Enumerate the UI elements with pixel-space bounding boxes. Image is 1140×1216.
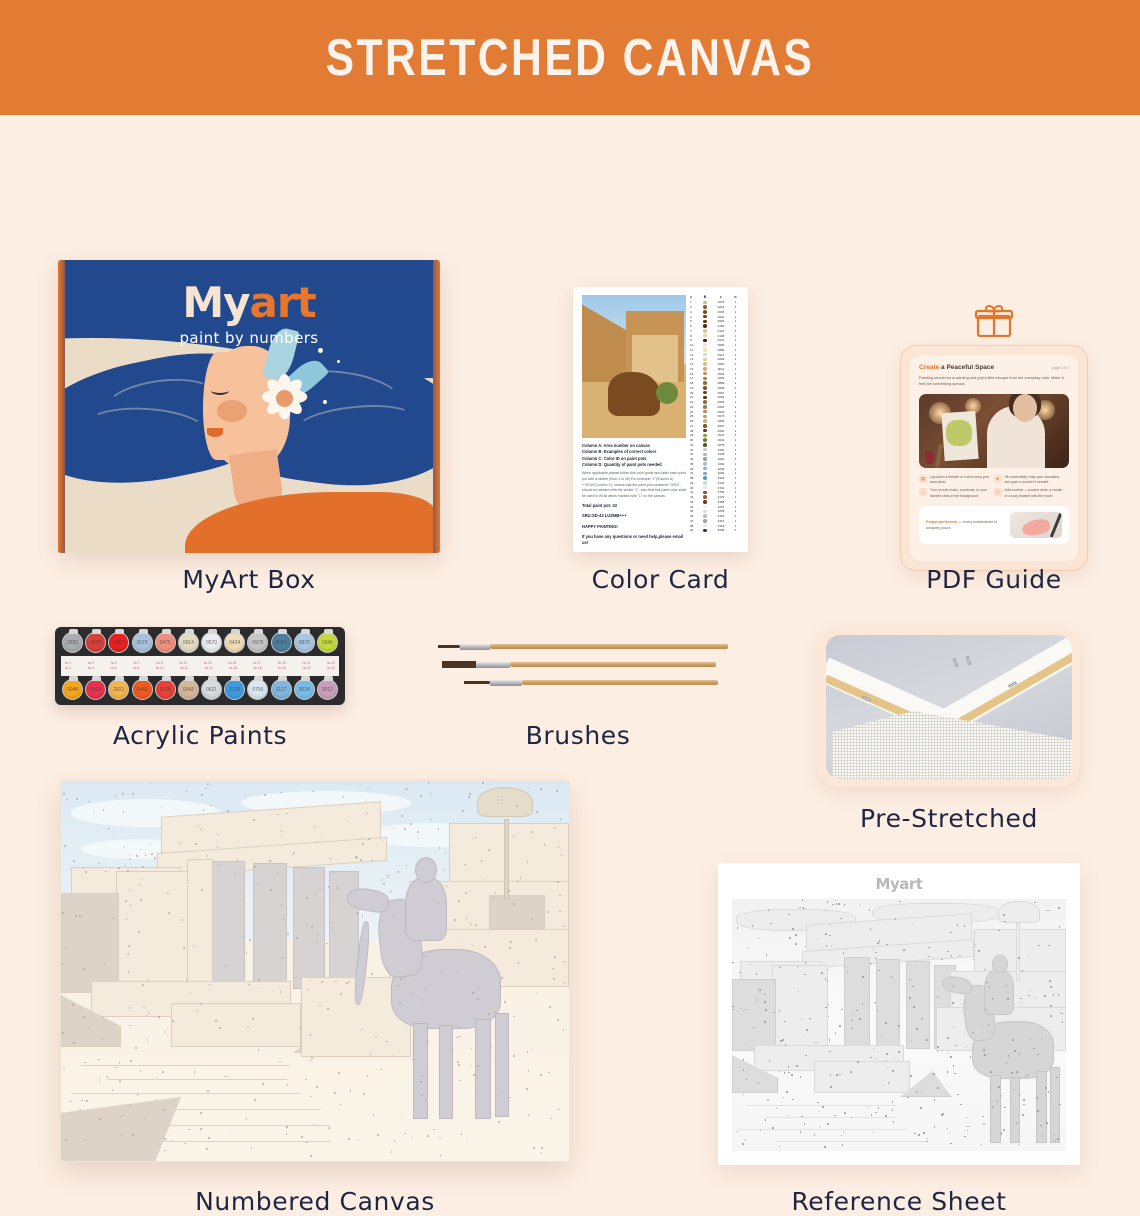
pot-quantity: 1 [731, 467, 740, 471]
region-number-dot [947, 1037, 949, 1039]
color-id: 0081 [711, 400, 731, 404]
column [906, 961, 930, 1049]
palm-trunk [504, 819, 509, 899]
pot-quantity: 1 [731, 329, 740, 333]
region-number-dot [952, 1002, 954, 1004]
region-number-dot [154, 857, 156, 859]
region-number-dot [404, 1133, 406, 1135]
area-number: 10 [690, 343, 699, 347]
page-header: STRETCHED CANVAS [0, 0, 1140, 115]
blanket-icon: ▤ [919, 475, 927, 483]
region-number-dot [842, 1144, 844, 1146]
color-swatch [699, 500, 711, 504]
color-swatch [699, 415, 711, 419]
region-number-dot [62, 1032, 64, 1034]
region-number-dot [563, 1029, 565, 1031]
eye [211, 386, 229, 395]
region-number-dot [140, 1070, 142, 1072]
region-number-dot [135, 1047, 137, 1049]
area-number: 44 [690, 505, 699, 509]
region-number-dot [784, 1021, 786, 1023]
color-table-row: 1006661 [690, 343, 741, 348]
region-number-dot [984, 1054, 986, 1056]
region-number-dot [207, 1090, 209, 1092]
region-number-dot [122, 793, 124, 795]
region-number-dot [756, 999, 758, 1001]
color-swatch [699, 519, 711, 523]
region-number-dot [973, 959, 975, 961]
pot-quantity: 1 [731, 386, 740, 390]
color-swatch [699, 329, 711, 333]
color-swatch [699, 358, 711, 362]
area-number: 28 [690, 429, 699, 433]
region-number-dot [1000, 1095, 1002, 1097]
color-table-row: 4333581 [690, 500, 741, 505]
region-number-dot [501, 977, 503, 979]
pot-quantity: 1 [731, 376, 740, 380]
region-number-dot [815, 1042, 817, 1044]
region-number-dot [301, 1136, 303, 1138]
region-number-dot [839, 1025, 841, 1027]
color-table-row: 4037021 [690, 485, 741, 490]
region-number-dot [439, 1138, 441, 1140]
region-number-dot [399, 1002, 401, 1004]
region-number-dot [493, 897, 495, 899]
color-swatch [699, 434, 711, 438]
region-number-dot [800, 1131, 802, 1133]
pdf-tip: ♨Add comfort — a warm drink, a candle, o… [994, 488, 1065, 499]
color-card-thumbnail [582, 295, 686, 438]
region-number-dot [315, 894, 317, 896]
acrylic-paints-item: 0292063300073079047508140570042409750015… [55, 627, 345, 705]
region-number-dot [425, 956, 427, 958]
color-id: 1060 [711, 448, 731, 452]
region-number-dot [875, 1112, 877, 1114]
region-number-dot [830, 1086, 832, 1088]
color-table-row: 1600021 [690, 371, 741, 376]
color-id: 0066 [711, 410, 731, 414]
camel-leg [413, 1023, 428, 1119]
color-table-row: 2100021 [690, 395, 741, 400]
region-number-dot [888, 1082, 890, 1084]
region-number-dot [119, 1062, 121, 1064]
color-id: 0054 [711, 405, 731, 409]
region-number-dot [63, 793, 65, 795]
region-number-dot [914, 1133, 916, 1135]
myart-logo: Myart paint by numbers [65, 278, 433, 347]
pot-quantity: 1 [731, 509, 740, 513]
region-number-dot [286, 1133, 288, 1135]
region-number-dot [767, 1100, 769, 1102]
color-id: 0031 [711, 338, 731, 342]
paint-pot: 0424 [224, 632, 245, 653]
color-table-row: 1905581 [690, 386, 741, 391]
reference-sheet-artwork [732, 899, 1066, 1151]
region-number-dot [918, 1134, 920, 1136]
region-number-dot [739, 972, 741, 974]
color-table-row: 4420571 [690, 504, 741, 509]
region-number-dot [70, 1101, 72, 1103]
color-table-header: A B C D [690, 295, 741, 299]
paint-pot: 0007 [108, 632, 129, 653]
pot-quantity: 1 [731, 500, 740, 504]
region-number-dot [391, 1151, 393, 1153]
region-number-dot [129, 1025, 131, 1027]
palm-fronds [998, 901, 1040, 923]
region-number-dot [934, 1126, 936, 1128]
region-number-dot [326, 943, 328, 945]
region-number-dot [788, 1066, 790, 1068]
region-number-dot [955, 1045, 957, 1047]
region-number-dot [796, 1065, 798, 1067]
color-table-row: 300051 [690, 310, 741, 315]
pdf-tip: ▤Lay down a blanket or mat to keep your … [919, 475, 990, 486]
region-number-dot [953, 1065, 955, 1067]
caption-numbered-canvas: Numbered Canvas [60, 1187, 570, 1216]
region-number-dot [362, 915, 364, 917]
numbered-canvas-item [60, 780, 570, 1162]
color-table-row: 2300541 [690, 405, 741, 410]
region-number-dot [783, 1097, 785, 1099]
wall-block [732, 979, 776, 1051]
color-card-instructions: When applicable,please follow this color… [582, 471, 686, 499]
region-number-dot [1007, 998, 1009, 1000]
region-number-dot [467, 1138, 469, 1140]
region-number-dot [420, 1081, 422, 1083]
region-number-dot [561, 854, 563, 856]
region-number-dot [746, 1078, 748, 1080]
pot-quantity: 1 [731, 424, 740, 428]
region-number-dot [909, 997, 911, 999]
color-id: 0005 [711, 310, 731, 314]
paint-pot: 0345 [317, 632, 338, 653]
area-number: 41 [690, 490, 699, 494]
region-number-dot [151, 853, 153, 855]
pot-quantity: 1 [731, 452, 740, 456]
area-number: 25 [690, 414, 699, 418]
region-number-dot [871, 1114, 873, 1116]
color-swatch [699, 362, 711, 366]
color-swatch [699, 457, 711, 461]
color-table-row: 3310381 [690, 452, 741, 457]
region-number-dot [130, 1060, 132, 1062]
color-table-row: 2200811 [690, 400, 741, 405]
paint-number-label: № 22 [303, 666, 311, 671]
region-number-dot [121, 1134, 123, 1136]
color-swatch [699, 320, 711, 324]
color-table-row: 2606661 [690, 419, 741, 424]
region-number-dot [736, 1131, 738, 1133]
pdf-footer-text: Forget perfection — every brushstroke is… [926, 519, 1004, 531]
region-number-dot [123, 811, 125, 813]
color-table-row: 4733151 [690, 519, 741, 524]
region-number-dot [540, 788, 542, 790]
region-number-dot [462, 810, 464, 812]
region-number-dot [526, 1088, 528, 1090]
rider-head [992, 955, 1008, 973]
region-number-dot [112, 1089, 114, 1091]
region-number-dot [377, 1134, 379, 1136]
color-table-row: 200191 [690, 305, 741, 310]
area-number: 31 [690, 443, 699, 447]
region-number-dot [1003, 914, 1005, 916]
color-table-row: 400221 [690, 314, 741, 319]
region-number-dot [340, 993, 342, 995]
region-number-dot [1050, 986, 1052, 988]
area-number: 24 [690, 410, 699, 414]
region-number-dot [1059, 926, 1061, 928]
region-number-dot [1050, 1005, 1052, 1007]
region-number-dot [206, 1148, 208, 1150]
region-number-dot [836, 903, 838, 905]
region-number-dot [286, 1126, 288, 1128]
cushion-icon: ● [994, 475, 1002, 483]
region-number-dot [779, 1071, 781, 1073]
region-number-dot [541, 1152, 543, 1154]
temple-wall-inner [772, 965, 828, 1049]
pot-quantity: 1 [731, 462, 740, 466]
region-number-dot [225, 1076, 227, 1078]
region-number-dot [88, 801, 90, 803]
area-number: 20 [690, 391, 699, 395]
col-a-header: A [690, 295, 699, 299]
region-number-dot [309, 1060, 311, 1062]
region-number-dot [1042, 1135, 1044, 1137]
area-number: 32 [690, 448, 699, 452]
region-number-dot [547, 911, 549, 913]
color-swatch [699, 301, 711, 305]
region-number-dot [471, 1048, 473, 1050]
region-number-dot [983, 1049, 985, 1051]
color-table-row: 2500731 [690, 414, 741, 419]
region-number-dot [319, 1005, 321, 1007]
color-id: 0073 [711, 414, 731, 418]
color-swatch [699, 305, 711, 309]
region-number-dot [484, 946, 486, 948]
color-swatch [699, 419, 711, 423]
paint-number-label: № 18 [254, 666, 262, 671]
paint-pot: 0756 [247, 679, 268, 700]
region-number-dot [841, 1009, 843, 1011]
region-number-dot [310, 1096, 312, 1098]
area-number: 40 [690, 486, 699, 490]
region-number-dot [158, 1016, 160, 1018]
region-number-dot [1011, 1072, 1013, 1074]
region-number-dot [430, 819, 432, 821]
region-number-dot [791, 1074, 793, 1076]
region-number-dot [825, 1007, 827, 1009]
color-table-row: 2806001 [690, 428, 741, 433]
region-number-dot [792, 1099, 794, 1101]
color-id: 0606 [711, 376, 731, 380]
pdf-guide-image: Create a Peaceful Space page 1 of 1 Pain… [900, 345, 1088, 571]
area-number: 7 [690, 329, 699, 333]
region-number-dot [367, 789, 369, 791]
region-number-dot [835, 1032, 837, 1034]
region-number-dot [860, 905, 862, 907]
pot-quantity: 1 [731, 315, 740, 319]
pot-quantity: 1 [731, 448, 740, 452]
region-number-dot [252, 1018, 254, 1020]
pot-quantity: 1 [731, 429, 740, 433]
region-number-dot [438, 828, 440, 830]
region-number-dot [949, 1133, 951, 1135]
region-number-dot [913, 1006, 915, 1008]
color-id: 3358 [711, 500, 731, 504]
column [211, 861, 245, 989]
pdf-footer-card: Forget perfection — every brushstroke is… [919, 506, 1069, 544]
rubble [171, 1003, 301, 1047]
area-number: 36 [690, 467, 699, 471]
lips [207, 428, 223, 437]
color-table-row: 3510601 [690, 462, 741, 467]
area-number: 6 [690, 324, 699, 328]
canvas-back-face [832, 711, 1072, 779]
region-number-dot [107, 1076, 109, 1078]
region-number-dot [926, 1141, 928, 1143]
color-table-row: 2400661 [690, 409, 741, 414]
region-number-dot [475, 924, 477, 926]
region-number-dot [350, 1090, 352, 1092]
rubble [814, 1061, 910, 1093]
region-number-dot [427, 1135, 429, 1137]
page-title: STRETCHED CANVAS [326, 28, 815, 88]
region-number-dot [875, 957, 877, 959]
region-number-dot [311, 1057, 313, 1059]
region-number-dot [165, 1031, 167, 1033]
color-table-row: 1300921 [690, 357, 741, 362]
paint-pot: 3117 [271, 679, 292, 700]
logo-tagline: paint by numbers [65, 329, 433, 347]
region-number-dot [852, 1014, 854, 1016]
region-number-dot [857, 1061, 859, 1063]
region-number-dot [841, 1135, 843, 1137]
region-number-dot [401, 1116, 403, 1118]
region-number-dot [795, 943, 797, 945]
paint-pot: 0975 [247, 632, 268, 653]
region-number-dot [926, 1039, 928, 1041]
region-number-dot [306, 1142, 308, 1144]
pot-quantity: 1 [731, 505, 740, 509]
region-number-dot [361, 1029, 363, 1031]
color-id: 0666 [711, 343, 731, 347]
region-number-dot [85, 871, 87, 873]
region-number-dot [136, 855, 138, 857]
region-number-dot [132, 1134, 134, 1136]
region-number-dot [743, 1059, 745, 1061]
region-number-dot [892, 1109, 894, 1111]
color-table-row: 2000611 [690, 390, 741, 395]
area-number: 17 [690, 376, 699, 380]
region-number-dot [332, 871, 334, 873]
pot-quantity: 1 [731, 438, 740, 442]
region-number-dot [193, 945, 195, 947]
region-number-dot [498, 799, 500, 801]
region-number-dot [947, 1071, 949, 1073]
caption-pdf-guide: PDF Guide [880, 565, 1108, 594]
region-number-dot [768, 909, 770, 911]
region-number-dot [528, 1070, 530, 1072]
region-number-dot [75, 915, 77, 917]
paint-pot: 0342 [178, 679, 199, 700]
region-number-dot [1003, 1129, 1005, 1131]
region-number-dot [99, 1118, 101, 1120]
pot-quantity: 1 [731, 334, 740, 338]
region-number-dot [764, 1021, 766, 1023]
color-id: 3315 [711, 514, 731, 518]
region-number-dot [743, 1094, 745, 1096]
cheek [217, 400, 247, 422]
region-number-dot [1012, 1039, 1014, 1041]
region-number-dot [64, 845, 66, 847]
color-table-row: 3006411 [690, 438, 741, 443]
region-number-dot [367, 1075, 369, 1077]
region-number-dot [967, 1126, 969, 1128]
region-number-dot [140, 899, 142, 901]
color-table-row: 4231291 [690, 495, 741, 500]
pot-quantity: 1 [731, 372, 740, 376]
caption-color-card: Color Card [538, 565, 783, 594]
pot-quantity: 1 [731, 519, 740, 523]
color-swatch [699, 405, 711, 409]
pot-quantity: 1 [731, 405, 740, 409]
region-number-dot [835, 900, 837, 902]
region-number-dot [899, 901, 901, 903]
region-number-dot [404, 828, 406, 830]
color-table-row: 4633151 [690, 514, 741, 519]
region-number-dot [558, 1109, 560, 1111]
region-number-dot [752, 925, 754, 927]
region-number-dot [73, 860, 75, 862]
region-number-dot [486, 813, 488, 815]
region-number-dot [806, 1029, 808, 1031]
pot-quantity: 1 [731, 481, 740, 485]
region-number-dot [280, 792, 282, 794]
color-id: 0002 [711, 395, 731, 399]
region-number-dot [950, 1143, 952, 1145]
region-number-dot [827, 901, 829, 903]
region-number-dot [132, 793, 134, 795]
region-number-dot [927, 1138, 929, 1140]
region-number-dot [869, 909, 871, 911]
region-number-dot [508, 890, 510, 892]
brush [428, 660, 728, 669]
region-number-dot [218, 865, 220, 867]
region-number-dot [164, 1150, 166, 1152]
region-number-dot [1023, 1099, 1025, 1101]
region-number-dot [964, 925, 966, 927]
color-table-row: 100151 [690, 300, 741, 305]
paint-pot: 0138 [155, 679, 176, 700]
region-number-dot [147, 979, 149, 981]
pot-quantity: 1 [731, 490, 740, 494]
color-id: 2096 [711, 471, 731, 475]
region-number-dot [1049, 980, 1051, 982]
color-id: 0002 [711, 372, 731, 376]
region-number-dot [217, 846, 219, 848]
region-number-dot [1047, 910, 1049, 912]
color-table-row: 4955661 [690, 528, 741, 533]
color-table-row: 701071 [690, 329, 741, 334]
area-number: 38 [690, 476, 699, 480]
column [253, 863, 287, 989]
region-number-dot [327, 1008, 329, 1010]
pot-quantity: 1 [731, 395, 740, 399]
sparkle-dot [318, 348, 323, 353]
region-number-dot [970, 1056, 972, 1058]
region-number-dot [195, 843, 197, 845]
area-number: 42 [690, 495, 699, 499]
